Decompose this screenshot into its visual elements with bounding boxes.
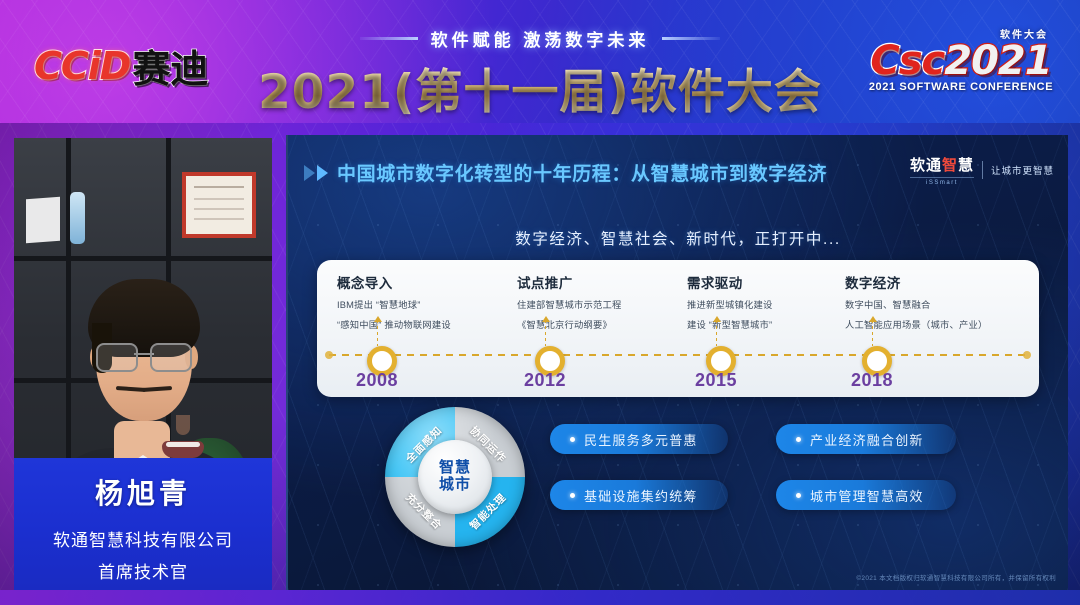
csc-logo-year: 2021 — [944, 38, 1051, 84]
donut-center-label: 智慧 城市 — [418, 440, 492, 514]
donut-center-line2: 城市 — [439, 477, 471, 494]
bullet-dot-icon — [570, 493, 575, 498]
timeline-detail-line: 推进新型城镇化建设 — [687, 299, 865, 312]
speaker-eyebrow — [116, 386, 146, 392]
timeline-stem — [377, 320, 378, 346]
brand-tagline: 让城市更智慧 — [991, 163, 1054, 177]
timeline-stem — [872, 320, 873, 346]
timeline-stem — [716, 320, 717, 346]
timeline-detail-line: IBM提出 “智慧地球” — [337, 299, 515, 312]
timeline-item: 概念导入 IBM提出 “智慧地球” “感知中国” 推动物联网建设 — [337, 272, 515, 331]
slogan-right-rule — [662, 37, 720, 40]
brand-divider — [982, 161, 983, 179]
brand-name-part1: 软通 — [910, 157, 942, 174]
brand-name-highlight: 智 — [942, 157, 958, 174]
timeline-heading: 数字经济 — [845, 272, 1035, 292]
csc-logo-mark: Csc2021 — [868, 38, 1054, 84]
speaker-role: 首席技术官 — [14, 558, 272, 583]
broadcast-screen: CCiD 赛迪 软件赋能 激荡数字未来 2021(第十一届)软件大会 软件大会 … — [0, 0, 1080, 605]
glasses-lens — [150, 343, 192, 372]
csc-logo-english-text: 2021 SOFTWARE CONFERENCE — [868, 81, 1054, 93]
bullet-dot-icon — [796, 437, 801, 442]
speaker-eyebrow — [142, 386, 172, 392]
slogan-left-rule — [360, 37, 418, 40]
timeline-axis — [329, 354, 1027, 356]
speaker-mouth — [162, 441, 204, 458]
timeline-heading: 需求驱动 — [687, 272, 865, 292]
brand-name-part2: 慧 — [958, 157, 974, 174]
event-header-banner: CCiD 赛迪 软件赋能 激荡数字未来 2021(第十一届)软件大会 软件大会 … — [0, 0, 1080, 123]
slide-title-row: 中国城市数字化转型的十年历程：从智慧城市到数字经济 — [304, 159, 827, 186]
slogan-text: 软件赋能 激荡数字未来 — [431, 26, 650, 51]
bullet-dot-icon — [796, 493, 801, 498]
csc-conference-logo: 软件大会 Csc2021 2021 SOFTWARE CONFERENCE — [868, 24, 1054, 98]
event-slogan: 软件赋能 激荡数字未来 — [360, 26, 721, 51]
speaker-name: 杨旭青 — [14, 458, 272, 512]
feature-pill-label: 基础设施集约统筹 — [584, 486, 698, 505]
framed-certificate — [182, 172, 256, 238]
timeline-item: 数字经济 数字中国、智慧融合 人工智能应用场景（城市、产业） — [845, 272, 1035, 331]
presentation-slide[interactable]: 中国城市数字化转型的十年历程：从智慧城市到数字经济 软通智慧 iSSmart 让… — [286, 135, 1068, 590]
glasses-lens — [96, 343, 138, 372]
timeline-year: 2018 — [832, 370, 912, 391]
feature-pill-label: 城市管理智慧高效 — [810, 486, 924, 505]
feature-pill[interactable]: 产业经济融合创新 — [776, 424, 956, 454]
feature-pill-label: 产业经济融合创新 — [810, 430, 924, 449]
brand-name-chinese: 软通智慧 — [910, 154, 974, 175]
feature-pill[interactable]: 民生服务多元普惠 — [550, 424, 728, 454]
slide-copyright-footer: ©2021 本文档版权归软通智慧科技有限公司所有，并保留所有权利 — [856, 572, 1056, 582]
timeline-detail-line: 住建部智慧城市示范工程 — [517, 299, 695, 312]
timeline-year: 2015 — [676, 370, 756, 391]
timeline-detail-line: “感知中国” 推动物联网建设 — [337, 319, 515, 332]
slide-brand-logo: 软通智慧 iSSmart 让城市更智慧 — [910, 154, 1054, 186]
timeline-item: 试点推广 住建部智慧城市示范工程 《智慧北京行动纲要》 — [517, 272, 695, 331]
timeline-card: 概念导入 IBM提出 “智慧地球” “感知中国” 推动物联网建设 试点推广 住建… — [317, 260, 1039, 397]
speaker-glasses — [94, 343, 194, 369]
speaker-nose — [176, 415, 190, 435]
smart-city-donut-diagram: 全面感知 协同运作 智能处理 充分整合 智慧 城市 — [385, 407, 525, 547]
timeline-heading: 概念导入 — [337, 272, 515, 292]
water-bottle — [70, 192, 85, 244]
donut-center-line1: 智慧 — [439, 460, 471, 477]
timeline-heading: 试点推广 — [517, 272, 695, 292]
speaker-nameplate: 杨旭青 软通智慧科技有限公司 首席技术官 — [14, 458, 272, 590]
desk-paper-stack — [26, 197, 60, 243]
speaker-organization: 软通智慧科技有限公司 — [14, 526, 272, 551]
feature-pill[interactable]: 基础设施集约统筹 — [550, 480, 728, 510]
bullet-dot-icon — [570, 437, 575, 442]
timeline-stem — [545, 320, 546, 346]
timeline-year: 2008 — [337, 370, 417, 391]
brand-name-english: iSSmart — [910, 177, 974, 186]
brand-mark: 软通智慧 iSSmart — [910, 154, 974, 186]
timeline-item: 需求驱动 推进新型城镇化建设 建设 “新型智慧城市” — [687, 272, 865, 331]
feature-pill-label: 民生服务多元普惠 — [584, 430, 698, 449]
feature-pill[interactable]: 城市管理智慧高效 — [776, 480, 956, 510]
double-chevron-right-icon — [304, 165, 328, 181]
bottom-color-strip — [0, 590, 1080, 605]
timeline-detail-line: 数字中国、智慧融合 — [845, 299, 1035, 312]
slide-title: 中国城市数字化转型的十年历程：从智慧城市到数字经济 — [337, 159, 827, 186]
timeline-year: 2012 — [505, 370, 585, 391]
slide-subheadline: 数字经济、智慧社会、新时代，正打开中... — [288, 227, 1068, 249]
csc-logo-letters: Csc — [870, 38, 944, 84]
